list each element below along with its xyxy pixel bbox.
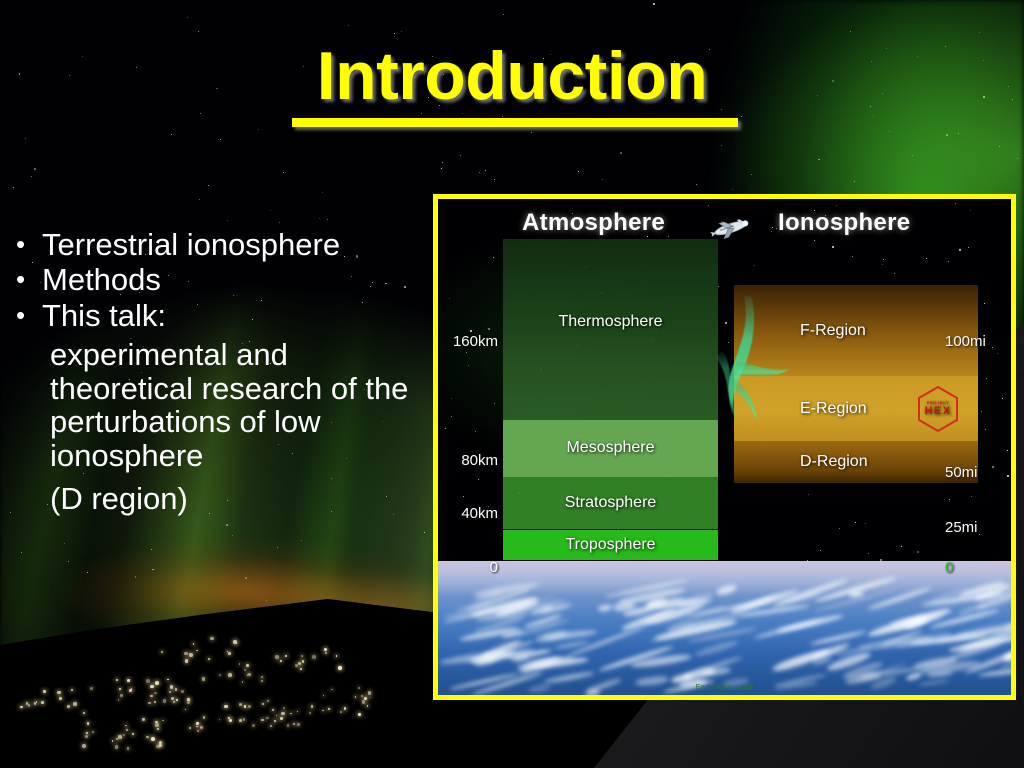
diagram-canvas: Atmosphere Ionosphere	[438, 199, 1011, 695]
hex-badge-main-text: HEX	[924, 406, 951, 417]
slide: Introduction • Terrestrial ionosphere • …	[0, 0, 1024, 768]
list-item: • Terrestrial ionosphere	[8, 228, 428, 261]
paragraph-tail: (D region)	[8, 482, 428, 515]
atmosphere-ionosphere-diagram: Atmosphere Ionosphere	[433, 194, 1016, 700]
bullet-list: • Terrestrial ionosphere • Methods • Thi…	[8, 228, 428, 516]
axis-left-tick-80km: 80km	[461, 452, 498, 469]
region-f-label: F-Region	[800, 322, 866, 340]
list-item: • This talk:	[8, 299, 428, 332]
heading-ionosphere: Ionosphere	[778, 209, 910, 237]
axis-right-tick-100mi: 100mi	[945, 333, 986, 350]
region-e: E-Region PROJECT HEX	[734, 376, 978, 441]
list-item-label: This talk:	[42, 299, 428, 332]
layer-stratosphere: Stratosphere	[503, 477, 718, 530]
list-item-label: Terrestrial ionosphere	[42, 228, 428, 261]
axis-left-tick-0: 0	[490, 559, 498, 576]
space-shuttle-icon	[708, 213, 754, 243]
earth-clouds	[438, 561, 1011, 695]
page-title: Introduction	[0, 42, 1024, 110]
list-item-label: Methods	[42, 263, 428, 296]
earth-image	[438, 561, 1011, 695]
region-d: D-Region	[734, 441, 978, 483]
bullet-icon: •	[8, 228, 42, 261]
atmosphere-column: Thermosphere Mesosphere Stratosphere Tro…	[503, 239, 718, 560]
layer-troposphere: Troposphere	[503, 530, 718, 560]
title-underline	[292, 118, 738, 127]
region-d-label: D-Region	[800, 453, 868, 471]
bullet-icon: •	[8, 299, 42, 332]
axis-right-tick-25mi: 25mi	[945, 519, 978, 536]
axis-left-tick-160km: 160km	[453, 333, 498, 350]
layer-thermosphere-label: Thermosphere	[558, 313, 662, 331]
hex-badge-label: PROJECT HEX	[916, 385, 960, 433]
layer-thermosphere: Thermosphere	[503, 239, 718, 420]
ionosphere-column: F-Region E-Region PROJECT HEX	[734, 285, 978, 483]
region-e-label: E-Region	[800, 400, 867, 418]
bullet-icon: •	[8, 263, 42, 296]
diagram-caption: Earth not to scale	[438, 684, 1011, 691]
axis-right-tick-50mi: 50mi	[945, 464, 978, 481]
hex-badge: PROJECT HEX	[916, 385, 960, 433]
paragraph-body: experimental and theoretical research of…	[8, 338, 428, 472]
layer-mesosphere-label: Mesosphere	[566, 439, 654, 457]
list-item: • Methods	[8, 263, 428, 296]
layer-stratosphere-label: Stratosphere	[565, 494, 657, 512]
layer-troposphere-label: Troposphere	[565, 536, 655, 554]
axis-right-tick-0: 0	[945, 559, 953, 576]
region-f: F-Region	[734, 285, 978, 376]
heading-atmosphere: Atmosphere	[522, 209, 665, 237]
axis-left-tick-40km: 40km	[461, 505, 498, 522]
layer-mesosphere: Mesosphere	[503, 420, 718, 476]
